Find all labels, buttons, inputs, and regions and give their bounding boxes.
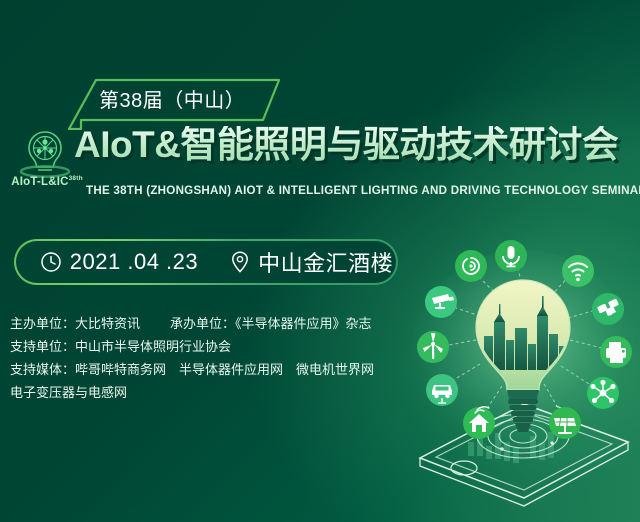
car-icon (426, 374, 458, 406)
logo-text-main: AIoT-L&IC (11, 176, 68, 188)
organizer-row: 电子变压器与电感网 (10, 381, 440, 404)
organizer-row: 主办单位：大比特资讯承办单位：《半导体器件应用》杂志 (10, 312, 440, 335)
solar-panel-icon (549, 407, 581, 439)
organizer-primary: 支持单位：中山市半导体照明行业协会 (10, 339, 231, 354)
page-subtitle: THE 38TH (ZHONGSHAN) AIOT & INTELLIGENT … (86, 184, 640, 197)
edition-badge: 第38届（中山） (63, 72, 293, 130)
logo: AIoT-L&IC38th (6, 124, 84, 200)
organizer-secondary: 承办单位：《半导体器件应用》杂志 (170, 316, 372, 331)
organizer-primary: 主办单位：大比特资讯 (10, 316, 140, 331)
microphone-icon (495, 240, 527, 272)
organizer-primary: 电子变压器与电感网 (10, 385, 127, 400)
poster-canvas: AIoT-L&IC38th 第38届（中山） AIoT&智能照明与驱动技术研讨会… (0, 0, 640, 522)
organizer-list: 主办单位：大比特资讯承办单位：《半导体器件应用》杂志 支持单位：中山市半导体照明… (10, 312, 440, 404)
event-venue: 中山金汇酒楼 (258, 246, 393, 278)
organizer-row: 支持媒体：哔哥哔特商务网 半导体器件应用网 微电机世界网 (10, 358, 440, 381)
logo-text-superscript: 38th (69, 175, 83, 182)
organizer-primary: 支持媒体：哔哥哔特商务网 半导体器件应用网 微电机世界网 (10, 362, 374, 377)
wifi-icon (562, 255, 594, 287)
logo-text: AIoT-L&IC38th (10, 175, 84, 188)
page-title: AIoT&智能照明与驱动技术研讨会 (74, 126, 618, 163)
network-nodes-icon (587, 377, 619, 409)
location-pin-icon (230, 250, 250, 274)
event-info-pill: 2021 .04 .23 中山金汇酒楼 (14, 239, 398, 285)
printer-icon (600, 336, 632, 368)
iot-lightbulb-smartphone-illustration (406, 236, 640, 522)
lightbulb-network-icon (6, 124, 84, 178)
event-date: 2021 .04 .23 (70, 249, 198, 275)
clock-icon (40, 251, 62, 273)
fingerprint-icon (455, 250, 487, 282)
organizer-row: 支持单位：中山市半导体照明行业协会 (10, 335, 440, 358)
wind-turbine-icon (417, 331, 449, 363)
smart-home-icon (463, 407, 495, 439)
badge-label: 第38届（中山） (99, 84, 245, 113)
satellite-icon (592, 293, 624, 325)
cctv-camera-icon (425, 286, 457, 318)
